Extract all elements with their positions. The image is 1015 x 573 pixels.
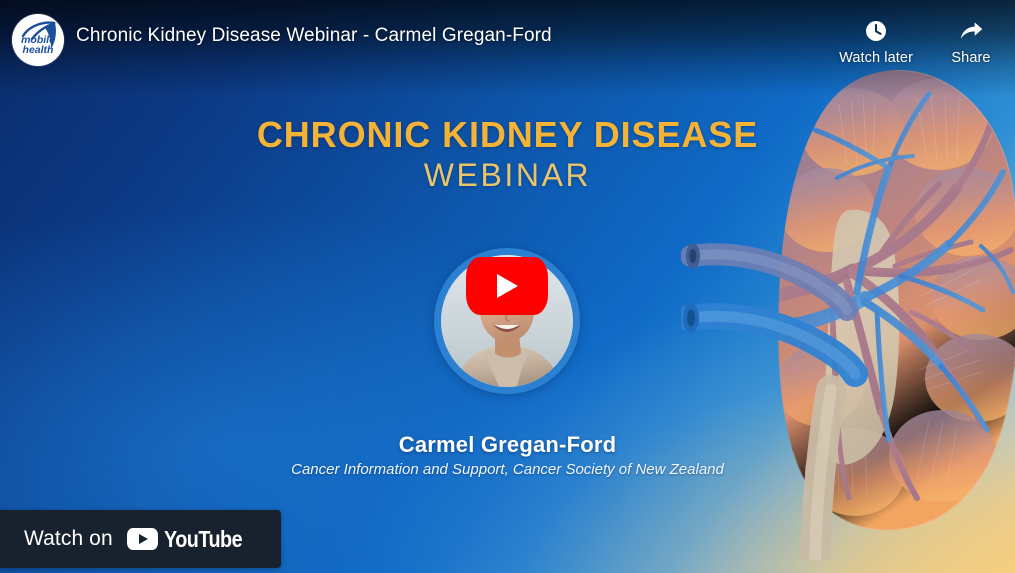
share-button[interactable]: Share [941, 18, 1001, 66]
slide-title: CHRONIC KIDNEY DISEASE [0, 114, 1015, 156]
header-actions: Watch later Share [839, 12, 1001, 66]
watch-later-label: Watch later [839, 50, 913, 66]
youtube-badge-icon [127, 528, 158, 550]
play-button[interactable] [466, 257, 548, 315]
watch-on-youtube-button[interactable]: Watch on YouTube [0, 510, 281, 568]
youtube-video-player[interactable]: CHRONIC KIDNEY DISEASE WEBINAR [0, 0, 1015, 573]
slide-subtitle: WEBINAR [0, 157, 1015, 194]
channel-avatar[interactable]: mobile health [12, 14, 64, 66]
player-header: mobile health Chronic Kidney Disease Web… [0, 0, 1015, 82]
video-title[interactable]: Chronic Kidney Disease Webinar - Carmel … [76, 25, 821, 47]
watch-later-button[interactable]: Watch later [839, 18, 913, 66]
clock-icon [863, 18, 889, 44]
presenter-role: Cancer Information and Support, Cancer S… [0, 461, 1015, 478]
presenter-name: Carmel Gregan-Ford [0, 432, 1015, 458]
youtube-logo: YouTube [127, 526, 255, 553]
play-triangle-icon [497, 274, 518, 298]
share-arrow-icon [958, 18, 984, 44]
svg-text:health: health [23, 44, 54, 56]
watch-on-label: Watch on [24, 527, 113, 551]
share-label: Share [951, 50, 990, 66]
youtube-wordmark: YouTube [164, 526, 242, 553]
